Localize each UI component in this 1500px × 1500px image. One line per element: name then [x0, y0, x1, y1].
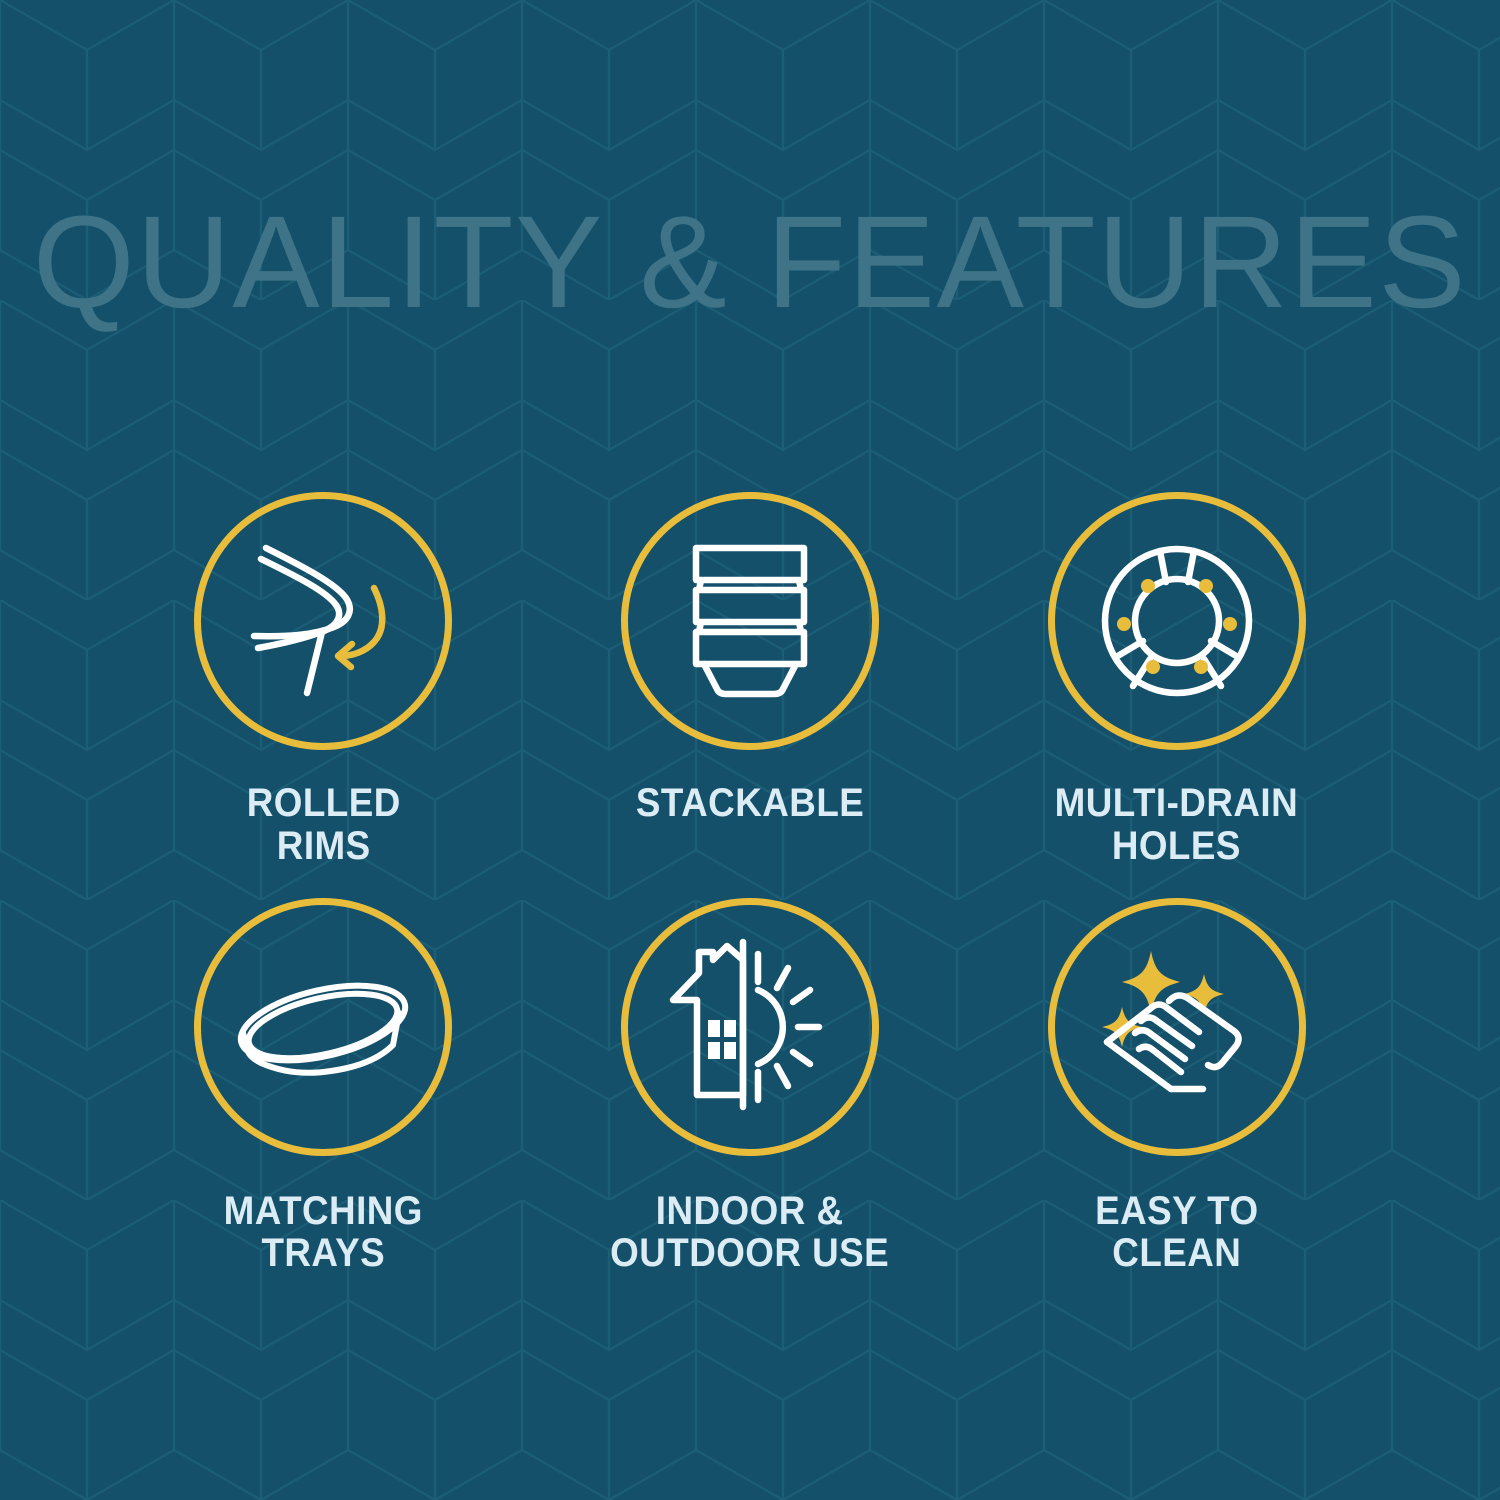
- feature-item-multi-drain-holes[interactable]: MULTI-DRAIN HOLES: [963, 492, 1390, 868]
- feature-badge: [194, 492, 452, 750]
- page-title: QUALITY & FEATURES: [0, 196, 1500, 327]
- feature-label: INDOOR & OUTDOOR USE: [610, 1190, 889, 1276]
- feature-label: MATCHING TRAYS: [224, 1190, 423, 1276]
- feature-item-stackable[interactable]: STACKABLE: [537, 492, 964, 868]
- rolled-rim-icon: [228, 526, 418, 716]
- stacked-pots-icon: [655, 526, 845, 716]
- feature-label: STACKABLE: [636, 782, 864, 825]
- feature-item-matching-trays[interactable]: MATCHING TRAYS: [110, 898, 537, 1276]
- house-sun-icon: [655, 932, 845, 1122]
- feature-item-indoor-outdoor-use[interactable]: INDOOR & OUTDOOR USE: [537, 898, 964, 1276]
- wiping-hand-sparkle-icon: [1079, 929, 1274, 1124]
- feature-badge: [194, 898, 452, 1156]
- feature-item-rolled-rims[interactable]: ROLLED RIMS: [110, 492, 537, 868]
- feature-badge: [621, 492, 879, 750]
- feature-label: ROLLED RIMS: [246, 782, 400, 868]
- feature-grid: ROLLED RIMS STACKABL: [110, 492, 1390, 1275]
- feature-item-easy-to-clean[interactable]: EASY TO CLEAN: [963, 898, 1390, 1276]
- feature-badge: [1048, 898, 1306, 1156]
- saucer-tray-icon: [223, 927, 423, 1127]
- feature-badge: [1048, 492, 1306, 750]
- feature-badge: [621, 898, 879, 1156]
- drain-holes-icon: [1082, 526, 1272, 716]
- feature-label: EASY TO CLEAN: [1095, 1190, 1258, 1276]
- feature-label: MULTI-DRAIN HOLES: [1055, 782, 1299, 868]
